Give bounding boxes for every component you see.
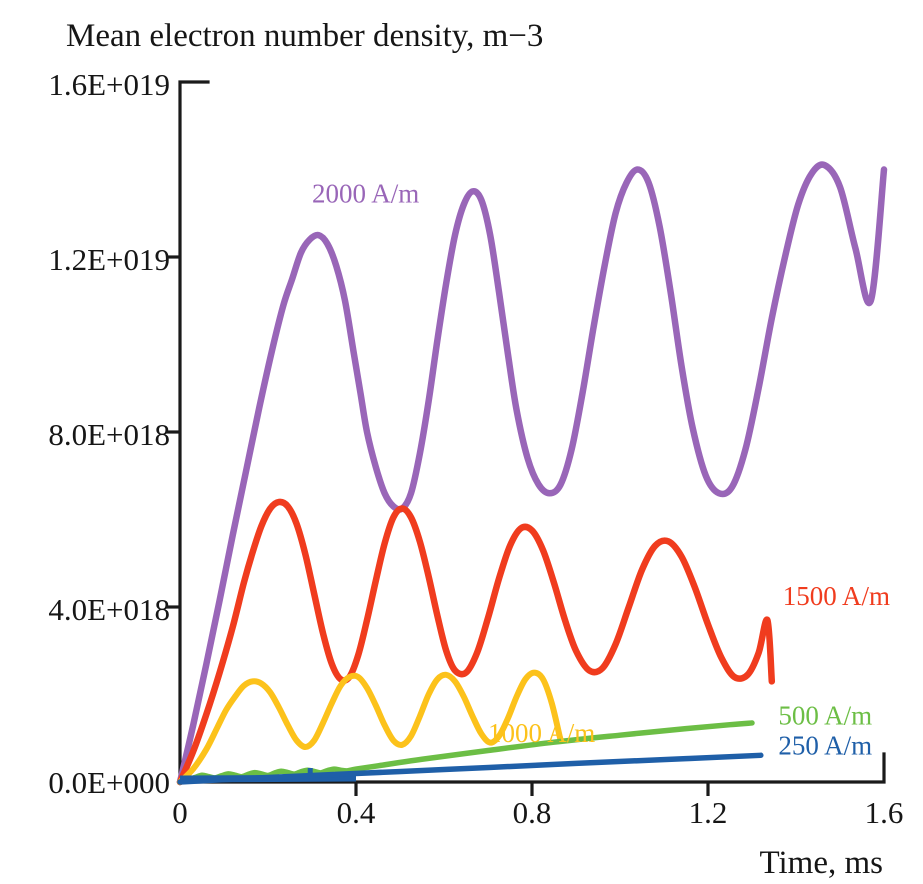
- chart-container: Mean electron number density, m−3 1.6E+0…: [0, 0, 923, 884]
- electron-density-line-chart: Mean electron number density, m−3 1.6E+0…: [0, 0, 923, 884]
- series-label-250: 250 A/m: [778, 730, 872, 760]
- axis-frame: [180, 82, 884, 782]
- series-curve-2000: [180, 165, 884, 782]
- x-tick-label-3: 0.8: [513, 795, 552, 830]
- series-label-500: 500 A/m: [778, 700, 872, 730]
- y-tick-label-1: 1.6E+019: [48, 67, 170, 102]
- series-curve-500: [180, 723, 752, 782]
- x-tick-label-1: 0: [172, 795, 188, 830]
- y-tick-label-3: 8.0E+018: [48, 417, 170, 452]
- series-layer: [180, 165, 884, 782]
- series-label-1500: 1500 A/m: [783, 581, 890, 611]
- series-label-2000: 2000 A/m: [312, 178, 419, 208]
- y-tick-label-5: 0.0E+000: [48, 765, 170, 800]
- y-tick-label-4: 4.0E+018: [48, 592, 170, 627]
- series-curve-1500: [180, 502, 772, 782]
- series-curve-250: [180, 755, 761, 782]
- x-tick-label-5: 1.6: [865, 795, 904, 830]
- y-axis-tick-labels: 1.6E+019 1.2E+019 8.0E+018 4.0E+018 0.0E…: [48, 67, 170, 800]
- x-tick-label-4: 1.2: [689, 795, 728, 830]
- series-label-1000: 1000 A/m: [488, 718, 595, 748]
- x-tick-label-2: 0.4: [337, 795, 376, 830]
- y-tick-label-2: 1.2E+019: [48, 242, 170, 277]
- x-axis-title: Time, ms: [760, 845, 884, 881]
- chart-title: Mean electron number density, m−3: [66, 18, 543, 54]
- x-axis-tick-labels: 0 0.4 0.8 1.2 1.6: [172, 795, 903, 830]
